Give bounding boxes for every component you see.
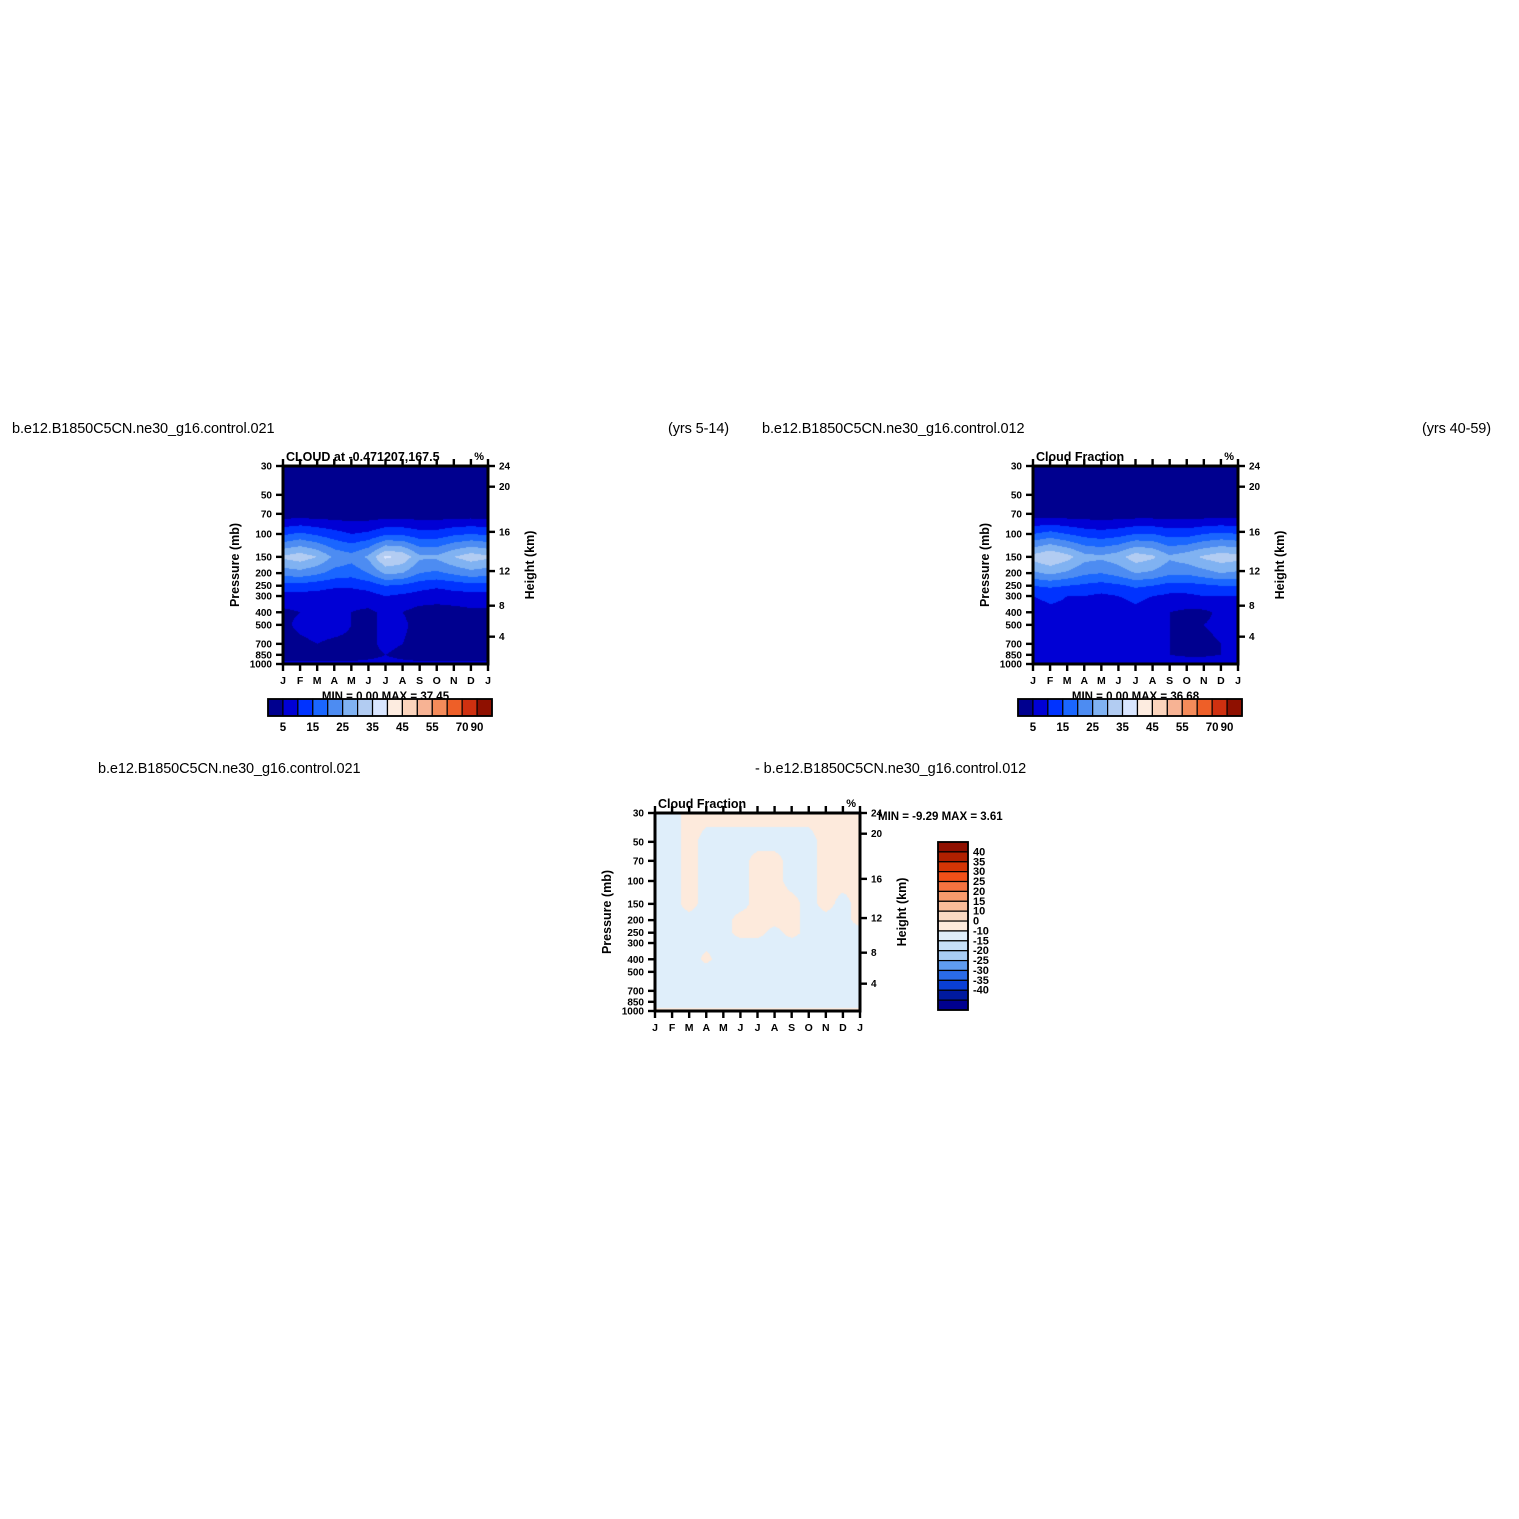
plot-title: Cloud Fraction [658, 797, 746, 811]
svg-text:4: 4 [1249, 632, 1255, 643]
svg-text:M: M [685, 1022, 694, 1034]
svg-text:1000: 1000 [1000, 660, 1023, 671]
yaxis-label-left: Pressure (mb) [978, 523, 992, 607]
svg-text:J: J [1030, 675, 1036, 687]
svg-text:500: 500 [1005, 620, 1022, 631]
svg-text:400: 400 [255, 608, 272, 619]
svg-text:70: 70 [261, 509, 273, 520]
svg-text:A: A [771, 1022, 779, 1034]
svg-text:J: J [857, 1022, 863, 1034]
colorbar-vertical [938, 842, 968, 1010]
svg-text:35: 35 [1116, 722, 1129, 734]
colorbar-horizontal [1018, 699, 1242, 716]
svg-text:J: J [755, 1022, 761, 1034]
svg-text:100: 100 [1005, 529, 1022, 540]
svg-text:16: 16 [499, 527, 511, 538]
svg-text:A: A [399, 675, 407, 687]
svg-text:100: 100 [627, 876, 644, 887]
svg-text:M: M [347, 675, 356, 687]
svg-text:A: A [702, 1022, 710, 1034]
svg-text:70: 70 [1011, 509, 1023, 520]
svg-text:J: J [383, 675, 389, 687]
svg-text:F: F [1047, 675, 1054, 687]
svg-text:J: J [280, 675, 286, 687]
svg-text:5: 5 [280, 722, 287, 734]
svg-text:16: 16 [871, 874, 883, 885]
svg-text:A: A [1149, 675, 1157, 687]
svg-text:M: M [1063, 675, 1072, 687]
svg-text:30: 30 [633, 809, 645, 820]
yaxis-label-left: Pressure (mb) [600, 870, 614, 954]
svg-text:70: 70 [456, 722, 469, 734]
svg-text:O: O [805, 1022, 813, 1034]
svg-text:1000: 1000 [622, 1007, 645, 1018]
svg-text:O: O [1183, 675, 1191, 687]
svg-text:1000: 1000 [250, 660, 273, 671]
svg-text:700: 700 [255, 639, 272, 650]
panel-topright: JFMAMJJASONDJ305070100150200250300400500… [690, 0, 1310, 760]
svg-text:8: 8 [871, 948, 877, 959]
svg-text:500: 500 [255, 620, 272, 631]
svg-text:55: 55 [426, 722, 439, 734]
svg-text:55: 55 [1176, 722, 1189, 734]
svg-text:F: F [669, 1022, 676, 1034]
svg-text:M: M [313, 675, 322, 687]
svg-text:30: 30 [261, 462, 273, 473]
svg-text:15: 15 [1056, 722, 1069, 734]
units-label: % [1224, 451, 1234, 463]
yaxis-label-right: Height (km) [1273, 531, 1287, 600]
svg-text:A: A [1080, 675, 1088, 687]
yaxis-label-right: Height (km) [523, 531, 537, 600]
svg-text:300: 300 [255, 592, 272, 603]
svg-text:700: 700 [1005, 639, 1022, 650]
svg-text:N: N [1200, 675, 1208, 687]
panel-bottom-header-left: b.e12.B1850C5CN.ne30_g16.control.021 [98, 761, 360, 777]
svg-text:50: 50 [261, 490, 273, 501]
svg-text:5: 5 [1030, 722, 1037, 734]
svg-text:70: 70 [633, 856, 645, 867]
svg-text:20: 20 [1249, 482, 1261, 493]
plot-title: CLOUD at -0.471207,167.5 [286, 450, 440, 464]
svg-text:N: N [450, 675, 458, 687]
panel-bottom: JFMAMJJASONDJ305070100150200250300400500… [560, 760, 1120, 1060]
svg-text:150: 150 [255, 552, 272, 563]
svg-text:S: S [1166, 675, 1173, 687]
svg-text:J: J [1115, 675, 1121, 687]
svg-text:J: J [737, 1022, 743, 1034]
svg-text:S: S [788, 1022, 795, 1034]
svg-text:300: 300 [1005, 592, 1022, 603]
units-label: % [474, 451, 484, 463]
svg-text:35: 35 [366, 722, 379, 734]
svg-text:25: 25 [1086, 722, 1099, 734]
svg-text:30: 30 [1011, 462, 1023, 473]
svg-text:D: D [839, 1022, 847, 1034]
svg-text:24: 24 [499, 462, 511, 473]
svg-text:700: 700 [627, 986, 644, 997]
plot-title: Cloud Fraction [1036, 450, 1124, 464]
svg-text:O: O [433, 675, 441, 687]
svg-text:45: 45 [396, 722, 409, 734]
svg-text:D: D [1217, 675, 1225, 687]
svg-text:F: F [297, 675, 304, 687]
svg-text:N: N [822, 1022, 830, 1034]
svg-text:D: D [467, 675, 475, 687]
svg-text:A: A [330, 675, 338, 687]
svg-text:4: 4 [499, 632, 505, 643]
svg-text:8: 8 [499, 601, 505, 612]
colorbar-horizontal [268, 699, 492, 716]
svg-text:8: 8 [1249, 601, 1255, 612]
panel-topleft: JFMAMJJASONDJ305070100150200250300400500… [0, 0, 560, 760]
svg-text:12: 12 [499, 567, 511, 578]
panel-topright-header-right: (yrs 40-59) [1422, 421, 1491, 437]
svg-text:J: J [365, 675, 371, 687]
svg-text:150: 150 [627, 899, 644, 910]
svg-text:90: 90 [471, 722, 484, 734]
yaxis-label-right: Height (km) [895, 878, 909, 947]
svg-text:-40: -40 [973, 985, 989, 997]
svg-text:90: 90 [1221, 722, 1234, 734]
svg-text:M: M [719, 1022, 728, 1034]
svg-text:J: J [485, 675, 491, 687]
svg-text:20: 20 [499, 482, 511, 493]
svg-text:50: 50 [1011, 490, 1023, 501]
yaxis-label-left: Pressure (mb) [228, 523, 242, 607]
svg-text:400: 400 [1005, 608, 1022, 619]
svg-text:400: 400 [627, 955, 644, 966]
svg-text:4: 4 [871, 979, 877, 990]
svg-text:50: 50 [633, 837, 645, 848]
minmax-label: MIN = -9.29 MAX = 3.61 [878, 811, 1003, 823]
svg-text:J: J [652, 1022, 658, 1034]
svg-text:20: 20 [871, 829, 883, 840]
svg-text:M: M [1097, 675, 1106, 687]
svg-text:150: 150 [1005, 552, 1022, 563]
svg-text:J: J [1235, 675, 1241, 687]
svg-text:200: 200 [1005, 569, 1022, 580]
svg-text:J: J [1133, 675, 1139, 687]
svg-text:200: 200 [255, 569, 272, 580]
svg-text:45: 45 [1146, 722, 1159, 734]
svg-text:S: S [416, 675, 423, 687]
units-label: % [846, 798, 856, 810]
svg-text:12: 12 [1249, 567, 1261, 578]
svg-text:25: 25 [336, 722, 349, 734]
svg-text:100: 100 [255, 529, 272, 540]
svg-text:16: 16 [1249, 527, 1261, 538]
svg-text:24: 24 [1249, 462, 1261, 473]
svg-text:500: 500 [627, 967, 644, 978]
svg-text:70: 70 [1206, 722, 1219, 734]
svg-text:300: 300 [627, 939, 644, 950]
svg-text:15: 15 [306, 722, 319, 734]
svg-text:200: 200 [627, 916, 644, 927]
svg-text:12: 12 [871, 914, 883, 925]
